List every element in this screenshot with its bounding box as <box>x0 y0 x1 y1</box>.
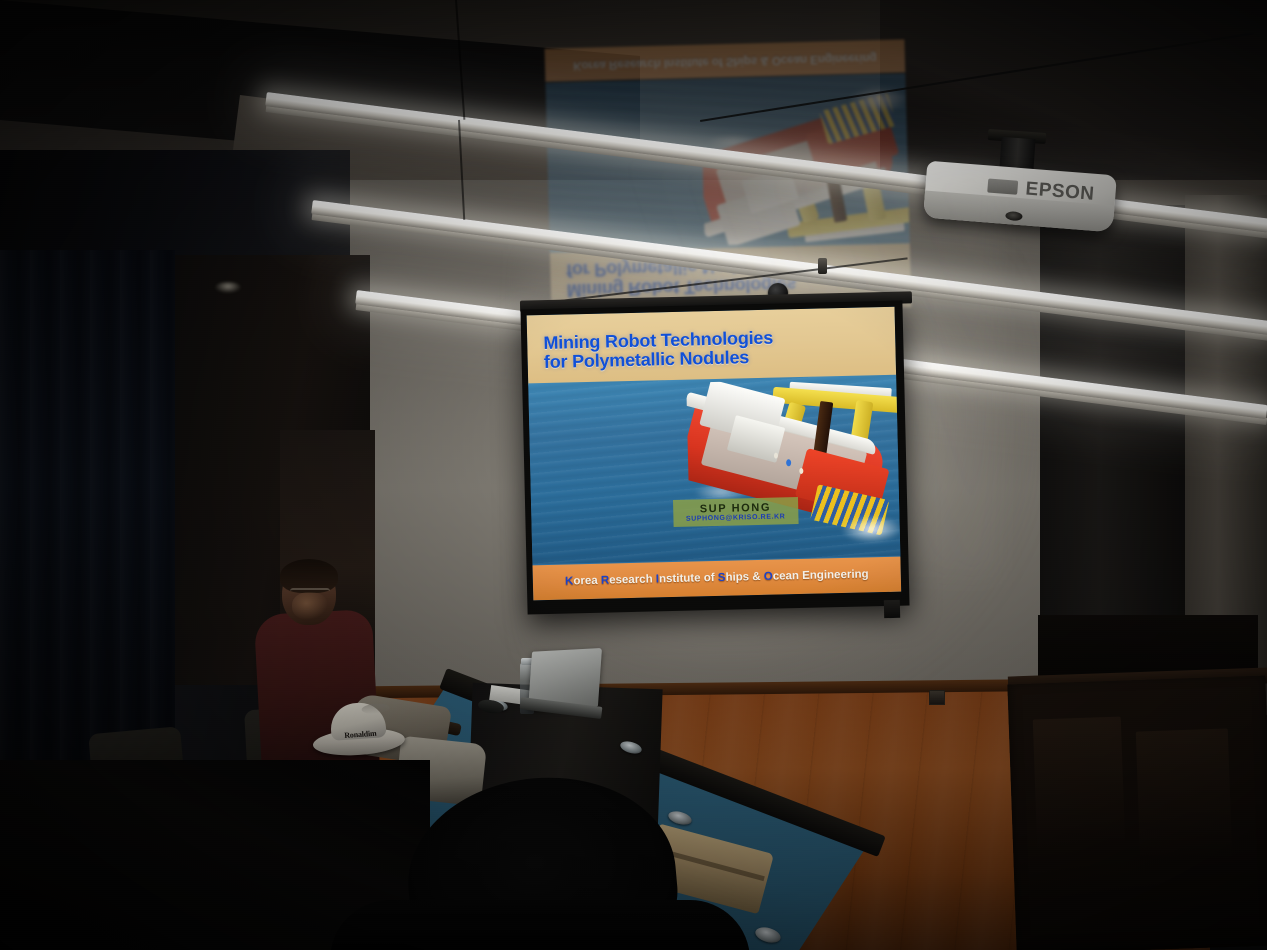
recessed-downlight <box>215 282 241 293</box>
slide-footer-band: Korea Research Institute of Ships & Ocea… <box>532 556 901 600</box>
crew-figure <box>774 453 778 459</box>
cabinet-door-panel[interactable] <box>1033 717 1125 850</box>
conference-room-photo: Mining Robot Technologies for Polymetall… <box>0 0 1267 950</box>
right-wall-column <box>1040 205 1190 675</box>
screen-weight-bar <box>884 600 900 618</box>
projector-vent <box>987 178 1018 194</box>
author-credit-box: SUP HONG SUPHONG@KRISO.RE.KR <box>673 497 799 527</box>
projection-screen[interactable]: Mining Robot Technologies for Polymetall… <box>520 301 909 615</box>
ceiling-sensor-icon <box>818 258 827 274</box>
white-fedora-hat[interactable]: Ronaldim <box>310 700 405 758</box>
slide-title-line-2: for Polymetallic Nodules <box>544 347 750 372</box>
institute-name: Korea Research Institute of Ships & Ocea… <box>565 569 869 588</box>
foreground-attendee-shoulders <box>330 900 750 950</box>
sea-foam-wake <box>839 514 901 544</box>
mining-vessel-photo <box>686 378 901 563</box>
wall-outlet[interactable] <box>929 690 945 705</box>
eyeglasses-icon <box>290 588 330 599</box>
author-email: SUPHONG@KRISO.RE.KR <box>686 513 786 522</box>
dark-navy-curtain <box>0 250 175 770</box>
slide-title: Mining Robot Technologies for Polymetall… <box>543 326 882 373</box>
hat-crown-dent <box>361 703 390 715</box>
cabinet-door-panel[interactable] <box>1136 728 1232 861</box>
presentation-slide: Mining Robot Technologies for Polymetall… <box>527 307 902 601</box>
ceiling-dark-panel <box>880 0 1267 180</box>
